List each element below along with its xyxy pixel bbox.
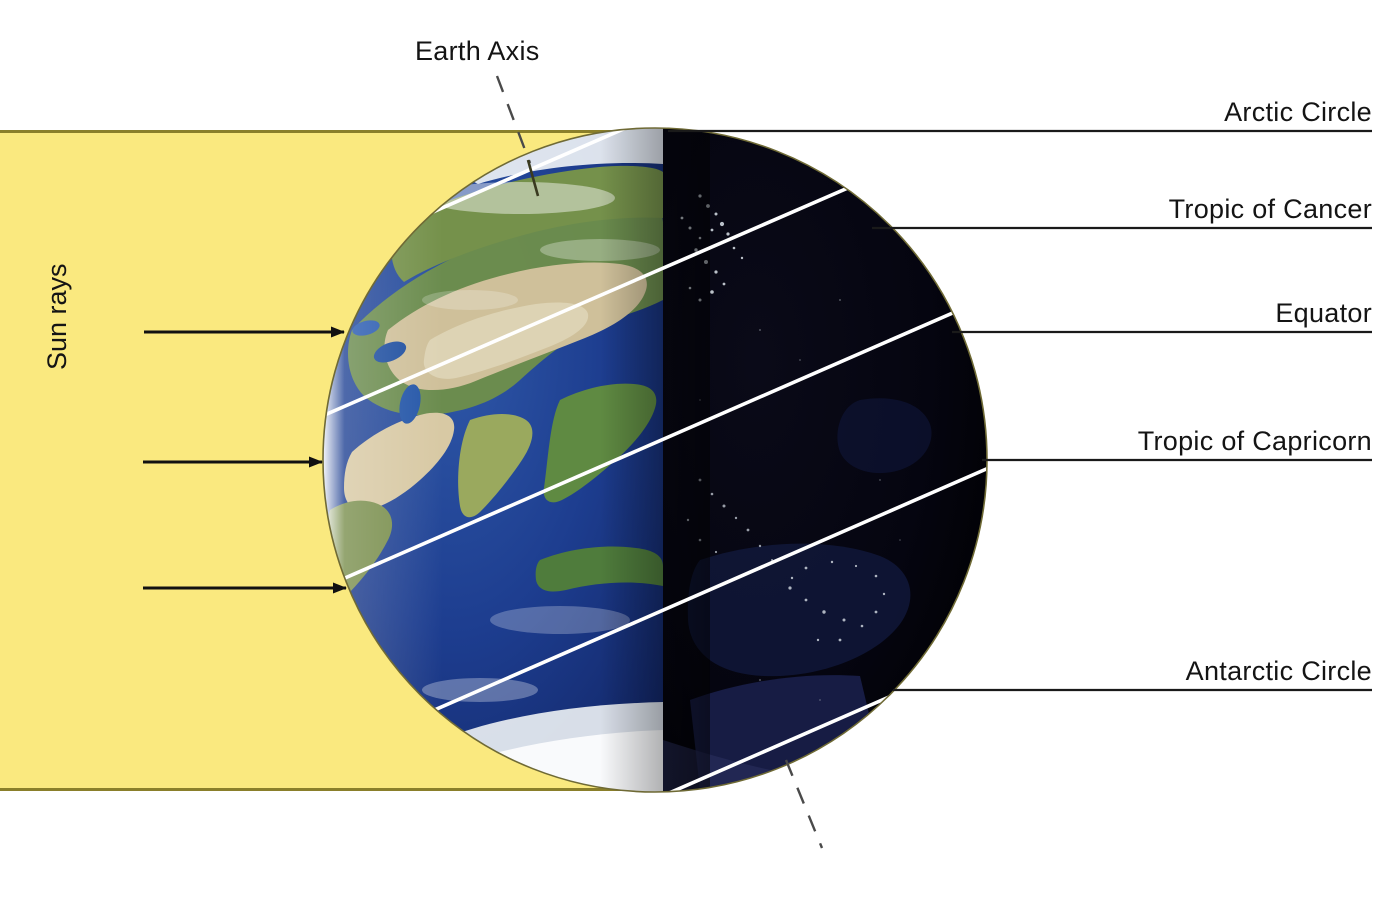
label-tropic-of-cancer: Tropic of Cancer [1169, 196, 1372, 223]
label-tropic-of-capricorn: Tropic of Capricorn [1138, 428, 1372, 455]
earth-axis-label: Earth Axis [415, 38, 540, 65]
sun-rays-label: Sun rays [44, 263, 71, 370]
label-arctic-circle: Arctic Circle [1224, 99, 1372, 126]
label-equator: Equator [1275, 300, 1372, 327]
label-antarctic-circle: Antarctic Circle [1186, 658, 1372, 685]
diagram-canvas: Earth Axis Sun rays Arctic Circle Tropic… [0, 0, 1380, 906]
